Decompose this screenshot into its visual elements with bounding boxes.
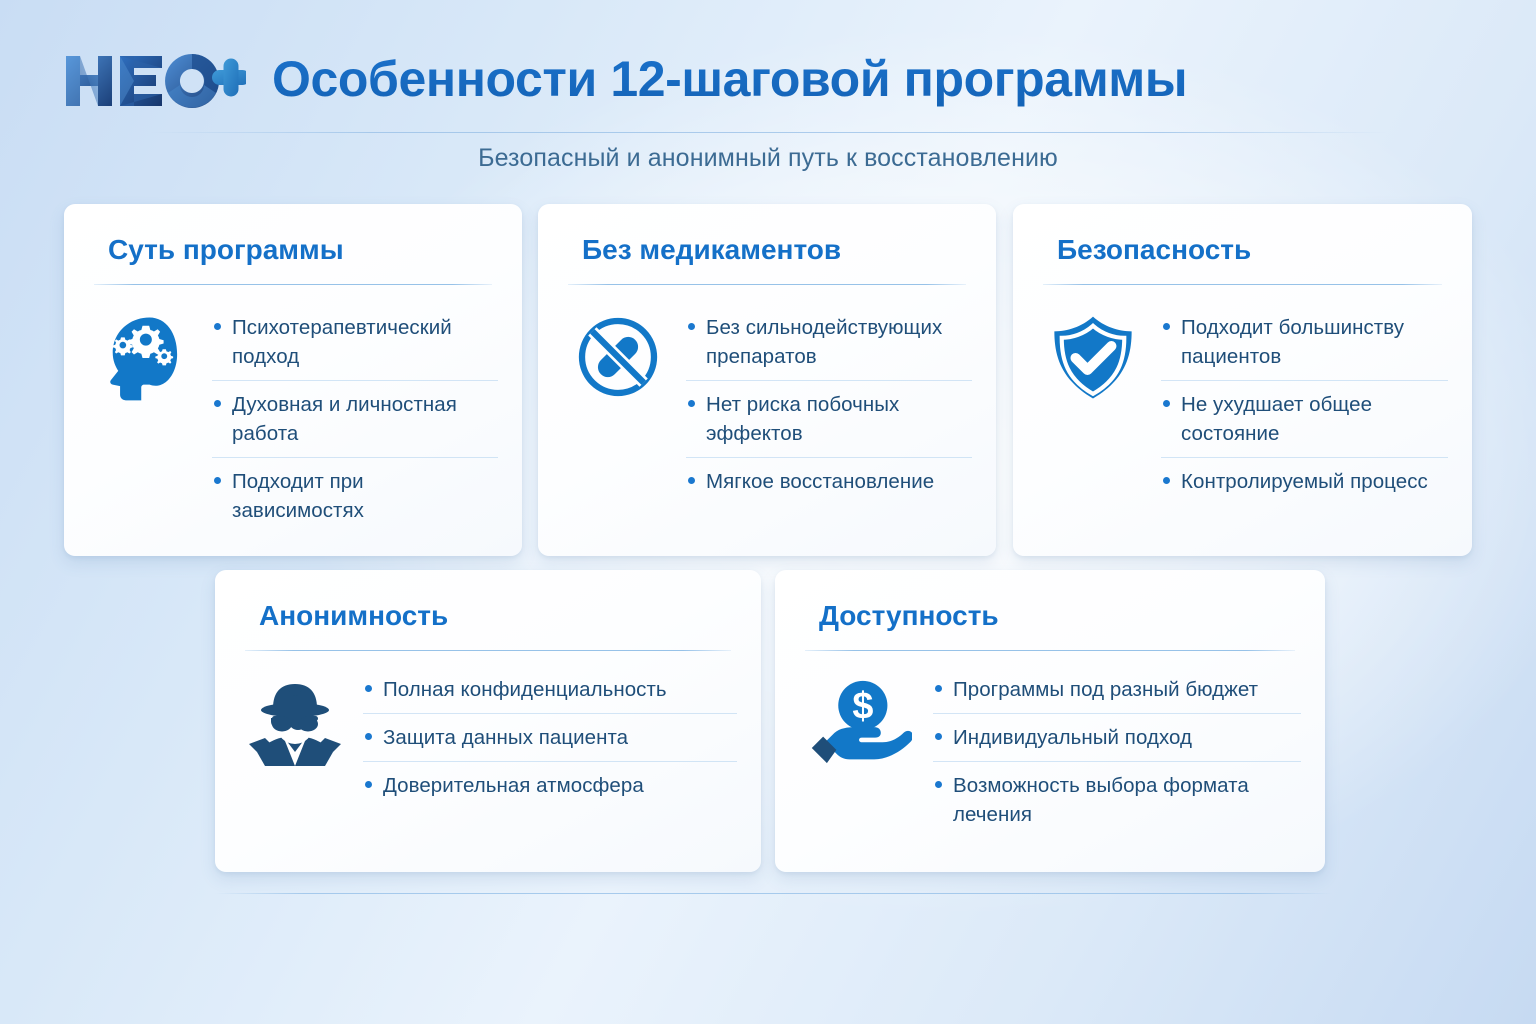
card-body: Подходит большинству пациентов Не ухудша… xyxy=(1039,300,1448,538)
bullet-text: Духовная и личностная работа xyxy=(232,390,496,448)
card-no-medication: Без медикаментов Бе xyxy=(538,204,996,556)
list-item: Возможность выбора формата лечения xyxy=(933,761,1301,838)
bullet-text: Полная конфиденциальность xyxy=(383,675,667,704)
bullet-dot-icon xyxy=(365,781,372,788)
neo-plus-logo xyxy=(64,50,246,112)
card-title: Анонимность xyxy=(259,600,448,632)
bullet-list: Полная конфиденциальность Защита данных … xyxy=(363,662,737,809)
bullet-text: Подходит большинству пациентов xyxy=(1181,313,1446,371)
infographic-canvas: Особенности 12-шаговой программы Безопас… xyxy=(0,0,1536,1024)
card-title-divider xyxy=(245,650,731,651)
card-title: Доступность xyxy=(819,600,999,632)
card-body: Полная конфиденциальность Защита данных … xyxy=(241,662,737,854)
list-item: Подходит большинству пациентов xyxy=(1161,304,1448,380)
card-title: Суть программы xyxy=(108,234,344,266)
card-title-divider xyxy=(568,284,966,285)
list-item: Нет риска побочных эффектов xyxy=(686,380,972,457)
bullet-text: Защита данных пациента xyxy=(383,723,628,752)
bullet-text: Подходит при зависимостях xyxy=(232,467,496,525)
bullet-text: Возможность выбора формата лечения xyxy=(953,771,1299,829)
bullet-dot-icon xyxy=(688,400,695,407)
bullet-dot-icon xyxy=(688,477,695,484)
bullet-text: Без сильнодействующих препаратов xyxy=(706,313,970,371)
list-item: Не ухудшает общее состояние xyxy=(1161,380,1448,457)
no-pills-icon xyxy=(564,300,672,402)
card-program-essence: Суть программы xyxy=(64,204,522,556)
bullet-text: Индивидуальный подход xyxy=(953,723,1192,752)
card-title-divider xyxy=(94,284,492,285)
page-subtitle: Безопасный и анонимный путь к восстановл… xyxy=(0,144,1536,173)
hand-holding-coin-icon: $ xyxy=(801,662,919,769)
shield-check-icon xyxy=(1039,300,1147,404)
list-item: Без сильнодействующих препаратов xyxy=(686,304,972,380)
header-divider xyxy=(150,132,1386,133)
bullet-text: Программы под разный бюджет xyxy=(953,675,1258,704)
header: Особенности 12-шаговой программы Безопас… xyxy=(0,0,1536,186)
bullet-list: Программы под разный бюджет Индивидуальн… xyxy=(933,662,1301,838)
bullet-list: Психотерапевтический подход Духовная и л… xyxy=(212,300,498,534)
bullet-dot-icon xyxy=(214,400,221,407)
card-title-divider xyxy=(1043,284,1442,285)
bullet-text: Нет риска побочных эффектов xyxy=(706,390,970,448)
list-item: Подходит при зависимостях xyxy=(212,457,498,534)
bullet-dot-icon xyxy=(935,733,942,740)
list-item: Полная конфиденциальность xyxy=(363,666,737,713)
card-title: Без медикаментов xyxy=(582,234,841,266)
bullet-dot-icon xyxy=(935,781,942,788)
card-safety: Безопасность Подходит большинству пациен… xyxy=(1013,204,1472,556)
bullet-dot-icon xyxy=(365,733,372,740)
bullet-dot-icon xyxy=(214,477,221,484)
bullet-dot-icon xyxy=(1163,400,1170,407)
bullet-dot-icon xyxy=(214,323,221,330)
card-anonymity: Анонимность xyxy=(215,570,761,872)
bullet-dot-icon xyxy=(365,685,372,692)
bullet-dot-icon xyxy=(935,685,942,692)
bullet-dot-icon xyxy=(1163,477,1170,484)
bullet-text: Доверительная атмосфера xyxy=(383,771,644,800)
list-item: Духовная и личностная работа xyxy=(212,380,498,457)
bullet-text: Психотерапевтический подход xyxy=(232,313,496,371)
bullet-dot-icon xyxy=(688,323,695,330)
card-affordability: Доступность $ Программы под разный бюдже… xyxy=(775,570,1325,872)
bullet-dot-icon xyxy=(1163,323,1170,330)
list-item: Мягкое восстановление xyxy=(686,457,972,505)
list-item: Доверительная атмосфера xyxy=(363,761,737,809)
bullet-list: Без сильнодействующих препаратов Нет рис… xyxy=(686,300,972,505)
card-title: Безопасность xyxy=(1057,234,1251,266)
bullet-text: Не ухудшает общее состояние xyxy=(1181,390,1446,448)
footer-divider xyxy=(215,893,1332,894)
bullet-list: Подходит большинству пациентов Не ухудша… xyxy=(1161,300,1448,505)
list-item: Индивидуальный подход xyxy=(933,713,1301,761)
list-item: Защита данных пациента xyxy=(363,713,737,761)
list-item: Программы под разный бюджет xyxy=(933,666,1301,713)
card-body: Психотерапевтический подход Духовная и л… xyxy=(90,300,498,538)
list-item: Психотерапевтический подход xyxy=(212,304,498,380)
card-title-divider xyxy=(805,650,1295,651)
list-item: Контролируемый процесс xyxy=(1161,457,1448,505)
bullet-text: Контролируемый процесс xyxy=(1181,467,1428,496)
card-body: Без сильнодействующих препаратов Нет рис… xyxy=(564,300,972,538)
anonymous-person-icon xyxy=(241,662,349,774)
page-title: Особенности 12-шаговой программы xyxy=(272,50,1187,108)
head-with-gears-icon xyxy=(90,300,198,404)
card-body: $ Программы под разный бюджет Индивидуал… xyxy=(801,662,1301,854)
svg-text:$: $ xyxy=(852,686,873,728)
bullet-text: Мягкое восстановление xyxy=(706,467,934,496)
